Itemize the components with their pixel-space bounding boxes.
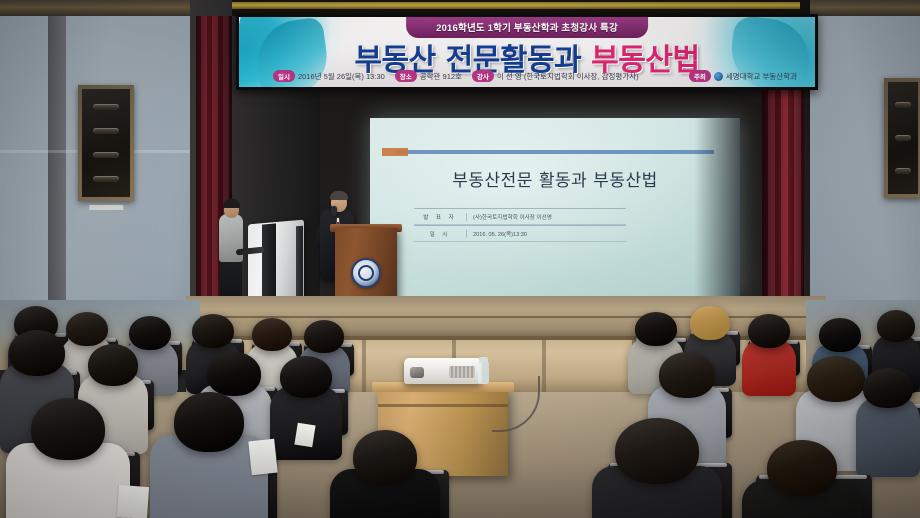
microphone-icon [331,206,337,216]
slide-table-row: 일 시 2016. 05. 26(목)13:30 [414,225,626,242]
event-banner: 2016학년도 1학기 부동산학과 초청강사 특강 부동산 전문활동과 부동산법… [236,14,818,90]
stage-floor-seam [186,316,826,318]
presenter-hair [330,191,348,200]
screen-glare [370,118,740,296]
water-bottle-cap [479,357,488,363]
audience-member-head [207,352,261,396]
banner-meta-datetime: 일시 2016년 5월 26일(목) 13:30 [273,70,385,82]
speaker-grille [82,89,130,197]
speaker-driver [895,135,912,141]
audience-member-head [353,430,417,484]
projector-lens-icon [410,367,424,378]
slide-title: 부동산전문 활동과 부동산법 [370,166,740,191]
audience-member-head [280,356,332,398]
audience-member-head [877,310,915,342]
audience-member-head [88,344,138,386]
banner-meta-tag: 강사 [472,70,494,82]
audience-member-head [767,440,837,496]
banner-meta-venue: 장소 공학관 912호 [395,70,462,82]
audience-member-head [690,306,730,340]
gold-trim-strip [232,2,800,9]
audience-member-head [192,314,234,348]
projector-vent [449,366,475,378]
banner-meta-value: 세명대학교 부동산학과 [726,71,797,82]
projector [404,358,482,384]
handout-paper [117,485,149,518]
audience-member-head [819,318,861,352]
banner-pill-text: 2016학년도 1학기 부동산학과 초청강사 특강 [436,23,618,34]
wall-speaker-left [78,85,134,201]
slide-table-row: 발 표 자 (사)한국토지법학회 이사장 이선영 [414,208,626,225]
audience-member-head [9,330,65,376]
banner-meta-tag: 주최 [689,70,711,82]
audience-member-head [615,418,699,484]
banner-meta-lecturer: 강사 이 선 영 (한국토지법학회 이사장, 감정평가사) [472,70,639,82]
audience-member-head [129,316,171,350]
slide-row-key: 발 표 자 [414,213,466,221]
banner-meta-value: 이 선 영 (한국토지법학회 이사장, 감정평가사) [497,71,639,82]
podium [335,228,397,306]
audience-member-head [635,312,677,346]
speaker-label-plate [89,205,123,210]
audience-member-head [31,398,105,460]
screenshot-root: 2016학년도 1학기 부동산학과 초청강사 특강 부동산 전문활동과 부동산법… [0,0,920,518]
speaker-driver [93,152,119,158]
slide-row-key: 일 시 [414,230,466,238]
speaker-driver [895,102,912,108]
banner-meta-tag: 일시 [273,70,295,82]
screen-edge-shadow [694,118,740,296]
audience-member-torso [856,397,920,477]
handout-paper [294,423,315,448]
slide-info-table: 발 표 자 (사)한국토지법학회 이사장 이선영 일 시 2016. 05. 2… [414,208,626,242]
university-emblem-icon [351,258,381,288]
water-bottle [478,362,489,384]
slide-row-value: 2016. 05. 26(목)13:30 [466,230,626,238]
speaker-driver [93,104,119,110]
audience-member-head [807,356,865,402]
audience-member-head [659,352,715,398]
projection-screen: 부동산전문 활동과 부동산법 발 표 자 (사)한국토지법학회 이사장 이선영 … [370,118,740,296]
audience-member-head [252,318,292,351]
audience-member-head [174,392,244,452]
technician-hair [223,199,240,208]
university-logo-icon [714,72,723,81]
banner-meta-tag: 장소 [395,70,417,82]
audience-member-head [304,320,344,353]
banner-meta-row: 일시 2016년 5월 26일(목) 13:30 장소 공학관 912호 강사 … [273,70,797,82]
av-table-edge [378,404,508,407]
slide-accent-tab [382,148,408,156]
audience-member-head [748,314,790,348]
audience-member-head [66,312,108,346]
audience-member-head [863,368,913,408]
banner-meta-value: 2016년 5월 26일(목) 13:30 [298,71,385,82]
speaker-driver [895,168,912,174]
speaker-grille [888,82,918,194]
banner-meta-value: 공학관 912호 [420,71,462,82]
speaker-driver [93,176,119,182]
left-wall-column [48,0,66,330]
right-wall-top-trim [800,0,920,16]
slide-accent-bar [396,150,714,154]
wall-speaker-right [884,78,920,198]
speaker-driver [93,128,119,134]
banner-meta-host: 주최 세명대학교 부동산학과 [689,70,797,82]
slide-row-value: (사)한국토지법학회 이사장 이선영 [466,213,626,221]
handout-paper [248,439,277,476]
